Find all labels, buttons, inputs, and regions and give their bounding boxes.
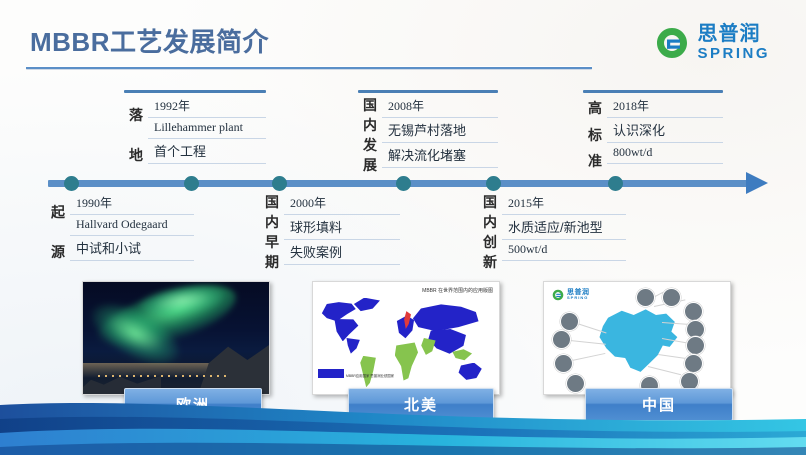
project-photo-node [686, 336, 705, 355]
china-map-logo: 思普润 SPRING [552, 288, 590, 300]
event-row-year: 2015年 [502, 192, 626, 215]
project-photo-node [684, 302, 703, 321]
event-row-year: 1992年 [148, 95, 266, 118]
timeline-arrow-icon [746, 172, 768, 194]
event-label: 落地 [124, 95, 148, 175]
event-row-detail: Lillehammer plant [148, 118, 266, 139]
event-card-bottom-0: 起源 1990年 Hallvard Odegaard 中试和小试 [46, 192, 194, 272]
china-map-graphic: 思普润 SPRING [544, 282, 730, 394]
timeline-dot [272, 176, 287, 191]
world-map-caption: MBBR 在世界范围内的应用版图 [422, 287, 493, 294]
event-rows: 2015年 水质适应/新池型 500wt/d [502, 192, 626, 272]
event-rows: 2000年 球形填料 失败案例 [284, 192, 400, 272]
timeline-dot [64, 176, 79, 191]
world-map-graphic: MBBR 在世界范围内的应用版图 MBBR应用国家 思普润业绩国家 [313, 282, 499, 394]
connector-line [570, 340, 606, 345]
slide-canvas: MBBR工艺发展简介 思普润 SPRING 落地 1992年 Lillehamm [0, 0, 806, 455]
event-row-detail: 无锡芦村落地 [382, 118, 498, 143]
event-rows: 2018年 认识深化 800wt/d [607, 95, 723, 175]
event-top-rule [358, 90, 498, 93]
event-top-rule [124, 90, 266, 93]
event-row-detail: 500wt/d [502, 240, 626, 261]
event-label: 起源 [46, 192, 70, 272]
event-label: 国内创新 [478, 192, 502, 272]
project-photo-node [662, 288, 681, 307]
world-map-legend-swatch [318, 369, 344, 378]
region-image-china: 思普润 SPRING [543, 281, 731, 395]
region-image-europe [82, 281, 270, 395]
event-row-year: 2000年 [284, 192, 400, 215]
footer-decoration [0, 393, 806, 455]
event-rows: 2008年 无锡芦村落地 解决流化堵塞 [382, 95, 498, 175]
project-photo-node [684, 354, 703, 373]
landmass-mexico [346, 338, 363, 354]
aurora-photo [83, 282, 269, 394]
timeline-dot [608, 176, 623, 191]
event-label: 国内早期 [260, 192, 284, 272]
aurora-mountain [198, 342, 270, 394]
event-card-top-2: 高标准 2018年 认识深化 800wt/d [583, 95, 723, 175]
project-photo-node [554, 354, 573, 373]
connector-line [648, 366, 681, 375]
china-territory-shape [596, 307, 682, 376]
event-card-top-1: 国内发展 2008年 无锡芦村落地 解决流化堵塞 [358, 95, 498, 175]
region-image-north-america: MBBR 在世界范围内的应用版图 MBBR应用国家 思普润业绩国家 [312, 281, 500, 395]
event-row-detail: 失败案例 [284, 240, 400, 265]
event-rows: 1992年 Lillehammer plant 首个工程 [148, 95, 266, 175]
page-title: MBBR工艺发展简介 [30, 22, 269, 59]
landmass-usa [332, 319, 360, 341]
event-row-detail: Hallvard Odegaard [70, 215, 194, 236]
connector-line [574, 322, 607, 333]
title-underline [26, 66, 592, 70]
event-card-bottom-1: 国内早期 2000年 球形填料 失败案例 [260, 192, 400, 272]
event-top-rule [583, 90, 723, 93]
event-label: 高标准 [583, 95, 607, 175]
brand-logo-text: 思普润 SPRING [697, 24, 770, 61]
project-photo-node [566, 374, 585, 393]
event-row-detail: 800wt/d [607, 143, 723, 164]
brand-logo: 思普润 SPRING [655, 24, 770, 61]
connector-line [572, 353, 605, 361]
event-row-detail: 水质适应/新池型 [502, 215, 626, 240]
event-row-year: 2018年 [607, 95, 723, 118]
landmass-north-america [320, 302, 355, 321]
event-rows: 1990年 Hallvard Odegaard 中试和小试 [70, 192, 194, 272]
landmass-india [421, 338, 438, 356]
event-row-detail: 认识深化 [607, 118, 723, 143]
event-row-detail: 中试和小试 [70, 236, 194, 261]
spring-logo-icon [552, 288, 564, 300]
project-photo-node [560, 312, 579, 331]
landmass-australia [458, 363, 482, 381]
event-row-year: 2008年 [382, 95, 498, 118]
event-row-detail: 球形填料 [284, 215, 400, 240]
timeline-dot [486, 176, 501, 191]
project-photo-node [636, 288, 655, 307]
timeline-dot [184, 176, 199, 191]
brand-name-cn: 思普润 [697, 24, 770, 44]
landmass-africa [395, 342, 419, 380]
event-card-top-0: 落地 1992年 Lillehammer plant 首个工程 [124, 95, 266, 175]
brand-name-en: SPRING [567, 296, 590, 300]
landmass-greenland [354, 298, 380, 314]
aurora-shore-lights [98, 375, 228, 377]
event-row-year: 1990年 [70, 192, 194, 215]
project-photo-node [552, 330, 571, 349]
world-map-legend-text: MBBR应用国家 思普润业绩国家 [346, 374, 394, 378]
brand-name-en: SPRING [697, 46, 770, 61]
event-row-detail: 首个工程 [148, 139, 266, 164]
timeline-dot [396, 176, 411, 191]
event-card-bottom-2: 国内创新 2015年 水质适应/新池型 500wt/d [478, 192, 626, 272]
event-label: 国内发展 [358, 95, 382, 175]
spring-logo-icon [655, 26, 689, 60]
china-map-logo-text: 思普润 SPRING [567, 289, 590, 300]
event-row-detail: 解决流化堵塞 [382, 143, 498, 168]
landmass-russia [412, 304, 479, 333]
landmass-south-america [360, 356, 379, 387]
